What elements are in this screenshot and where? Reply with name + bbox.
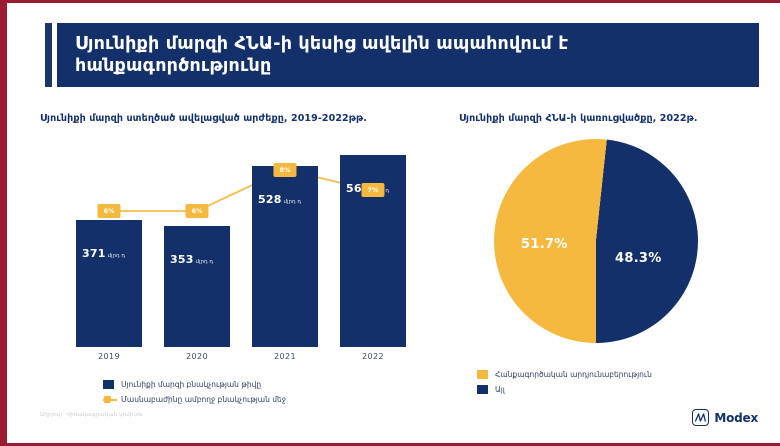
navy-square-icon <box>103 380 114 389</box>
bar-chart-legend: Սյունիքի մարզի բնակչության թիվը Մասնաբաժ… <box>103 377 403 407</box>
trend-value-chip-2020: 6% <box>185 204 208 218</box>
bar-value-unit: մլրդ դ <box>284 199 302 205</box>
pie-chart-legend: Հանքագործական արդյունաբերություն Այլ <box>477 367 727 397</box>
x-axis-label-2022: 2022 <box>340 352 406 361</box>
source-note: Աղբյուր՝ Վիճակագրական կոմիտե <box>40 412 143 418</box>
trend-value-chip-2022: 7% <box>361 183 384 197</box>
bar-2020[interactable] <box>164 226 230 347</box>
bar-value-number: 528 <box>258 193 282 206</box>
bar-chart-x-axis: 2019202020212022 <box>40 349 420 367</box>
legend-label: Սյունիքի մարզի բնակչության թիվը <box>121 380 261 389</box>
gold-line-marker-icon <box>103 395 117 404</box>
x-axis-label-2020: 2020 <box>164 352 230 361</box>
bar-value-number: 353 <box>170 253 194 266</box>
slide-canvas: Սյունիքի մարզի ՀՆԱ-ի կեսից ավելին ապահով… <box>0 0 780 446</box>
trend-value-chip-2019: 6% <box>97 204 120 218</box>
legend-item-line[interactable]: Մասնաբաժինը ամբողջ բնակչության մեջ <box>103 392 403 407</box>
pie-chart-panel: 51.7% 48.3% <box>459 135 759 365</box>
navy-square-icon <box>477 385 488 394</box>
title-accent-bar <box>45 23 52 87</box>
legend-item-mining[interactable]: Հանքագործական արդյունաբերություն <box>477 367 727 382</box>
bar-value-unit: մլրդ դ <box>108 253 126 259</box>
title-banner: Սյունիքի մարզի ՀՆԱ-ի կեսից ավելին ապահով… <box>45 23 759 87</box>
pie-slice-label-mining: 51.7% <box>521 237 568 252</box>
pie-slice-label-other: 48.3% <box>615 251 662 266</box>
x-axis-label-2019: 2019 <box>76 352 142 361</box>
x-axis-label-2021: 2021 <box>252 352 318 361</box>
bar-chart-plot-area: 371մլրդ դ353մլրդ դ528մլրդ դ561մլրդ դ6%6%… <box>40 135 420 347</box>
bar-2019[interactable] <box>76 220 142 347</box>
bar-chart-subtitle: Սյունիքի մարզի ստեղծած ավելացված արժեքը,… <box>40 113 367 124</box>
logo-text: Modex <box>714 411 758 425</box>
bar-chart-panel: 371մլրդ դ353մլրդ դ528մլրդ դ561մլրդ դ6%6%… <box>40 135 420 365</box>
pie-chart-subtitle: Սյունիքի մարզի ՀՆԱ-ի կառուցվածքը, 2022թ. <box>459 113 698 124</box>
bar-value-number: 371 <box>82 247 106 260</box>
trend-value-chip-2021: 8% <box>273 163 296 177</box>
bar-value-label: 371մլրդ դ <box>82 242 125 261</box>
legend-item-bars[interactable]: Սյունիքի մարզի բնակչության թիվը <box>103 377 403 392</box>
legend-label: Մասնաբաժինը ամբողջ բնակչության մեջ <box>121 395 286 404</box>
brand-logo[interactable]: Modex <box>692 409 758 426</box>
page-title: Սյունիքի մարզի ՀՆԱ-ի կեսից ավելին ապահով… <box>75 33 759 78</box>
bar-value-unit: մլրդ դ <box>196 259 214 265</box>
title-box: Սյունիքի մարզի ՀՆԱ-ի կեսից ավելին ապահով… <box>57 23 759 87</box>
bar-value-label: 528մլրդ դ <box>258 188 301 207</box>
m-logo-icon <box>692 409 709 426</box>
legend-label: Հանքագործական արդյունաբերություն <box>495 370 652 379</box>
gold-square-icon <box>477 370 488 379</box>
legend-item-other[interactable]: Այլ <box>477 382 727 397</box>
bar-value-label: 353մլրդ դ <box>170 248 213 267</box>
legend-label: Այլ <box>495 385 505 394</box>
